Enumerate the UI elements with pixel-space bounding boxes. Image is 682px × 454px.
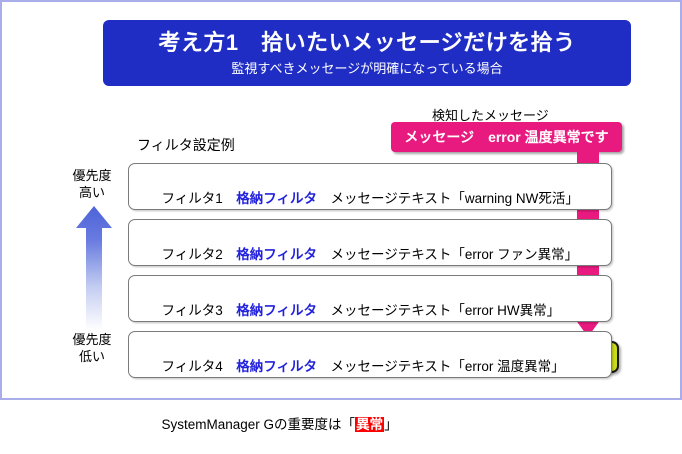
filter-name: フィルタ1: [162, 191, 223, 206]
filter-text-suffix: 」: [547, 303, 561, 318]
filter-text-suffix: 」: [565, 191, 579, 206]
filter-message-text: warning NW死活: [465, 191, 566, 206]
filter-text-prefix: メッセージテキスト「: [331, 247, 465, 262]
page-subtitle: 監視すべきメッセージが明確になっている場合: [231, 62, 502, 76]
detected-message-box: メッセージ error 温度異常です: [391, 122, 622, 152]
title-banner: 考え方1 拾いたいメッセージだけを拾う 監視すべきメッセージが明確になっている場…: [103, 20, 631, 86]
filter-name: フィルタ3: [162, 303, 223, 318]
filter-text-prefix: メッセージテキスト「: [331, 359, 465, 374]
page-title: 考え方1 拾いたいメッセージだけを拾う: [158, 30, 575, 55]
priority-high-line1: 優先度: [61, 168, 123, 185]
filter-row[interactable]: フィルタ2 格納フィルタ メッセージテキスト「error ファン異常」 Syst…: [128, 219, 612, 266]
filter-text-prefix: メッセージテキスト「: [331, 303, 465, 318]
filter-row[interactable]: フィルタ1 格納フィルタ メッセージテキスト「warning NW死活」 Sys…: [128, 163, 612, 210]
filter-row-head: フィルタ4 格納フィルタ メッセージテキスト「error 温度異常」: [139, 337, 611, 396]
filter-message-text: error HW異常: [465, 303, 547, 318]
filter-kind: 格納フィルタ: [236, 303, 317, 318]
filter-kind: 格納フィルタ: [236, 359, 317, 374]
filter-row-severity: SystemManager Gの重要度は「異常」: [139, 396, 611, 454]
filter-text-prefix: メッセージテキスト「: [331, 191, 465, 206]
filter-text-suffix: 」: [551, 359, 565, 374]
filter-kind: 格納フィルタ: [236, 191, 317, 206]
filter-row[interactable]: フィルタ3 格納フィルタ メッセージテキスト「error HW異常」 Syste…: [128, 275, 612, 322]
priority-low-line2: 低い: [61, 349, 123, 366]
filter-message-text: error 温度異常: [465, 359, 551, 374]
slide-canvas: 考え方1 拾いたいメッセージだけを拾う 監視すべきメッセージが明確になっている場…: [0, 0, 682, 400]
severity-badge: 異常: [355, 417, 384, 432]
severity-suffix: 」: [384, 417, 398, 432]
priority-low-line1: 優先度: [61, 332, 123, 349]
filter-text-suffix: 」: [565, 247, 579, 262]
priority-high-label: 優先度 高い: [61, 168, 123, 202]
priority-low-label: 優先度 低い: [61, 332, 123, 366]
priority-high-line2: 高い: [61, 185, 123, 202]
filter-name: フィルタ2: [162, 247, 223, 262]
severity-prefix: SystemManager Gの重要度は「: [162, 417, 356, 432]
priority-arrow-up-icon: [75, 206, 113, 330]
filter-kind: 格納フィルタ: [236, 247, 317, 262]
filter-name: フィルタ4: [162, 359, 223, 374]
filter-message-text: error ファン異常: [465, 247, 565, 262]
filter-row[interactable]: フィルタ4 格納フィルタ メッセージテキスト「error 温度異常」 Syste…: [128, 331, 612, 378]
filter-section-label: フィルタ設定例: [137, 135, 235, 155]
